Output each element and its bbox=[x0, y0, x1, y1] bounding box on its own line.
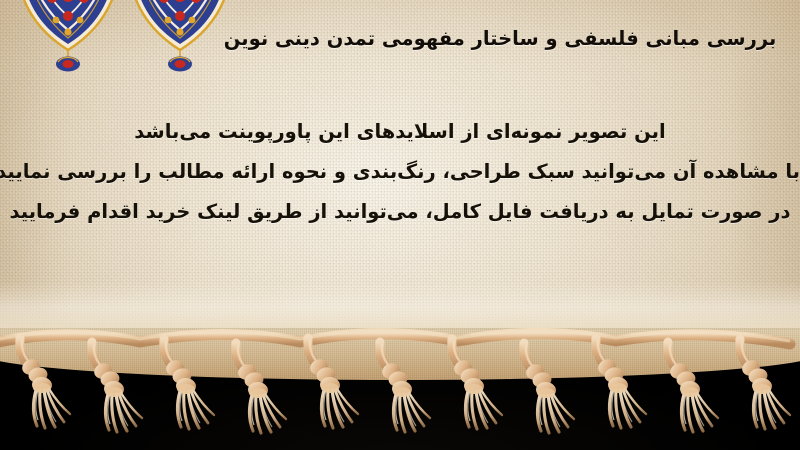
body-line: در صورت تمایل به دریافت فایل کامل، می‌تو… bbox=[0, 192, 800, 232]
presentation-slide: بررسی مبانی فلسفی و ساختار مفهومی تمدن د… bbox=[0, 0, 800, 450]
body-line: با مشاهده آن می‌توانید سبک طراحی، رنگ‌بن… bbox=[0, 152, 800, 192]
slide-title: بررسی مبانی فلسفی و ساختار مفهومی تمدن د… bbox=[222, 26, 778, 51]
tassel-row bbox=[0, 328, 800, 450]
slide-body: این تصویر نمونه‌ای از اسلایدهای این پاور… bbox=[0, 112, 800, 232]
body-line: این تصویر نمونه‌ای از اسلایدهای این پاور… bbox=[0, 112, 800, 152]
carpet-fringe bbox=[0, 328, 800, 450]
persian-ornament-icon bbox=[6, 0, 130, 76]
ornament-group bbox=[6, 0, 256, 74]
